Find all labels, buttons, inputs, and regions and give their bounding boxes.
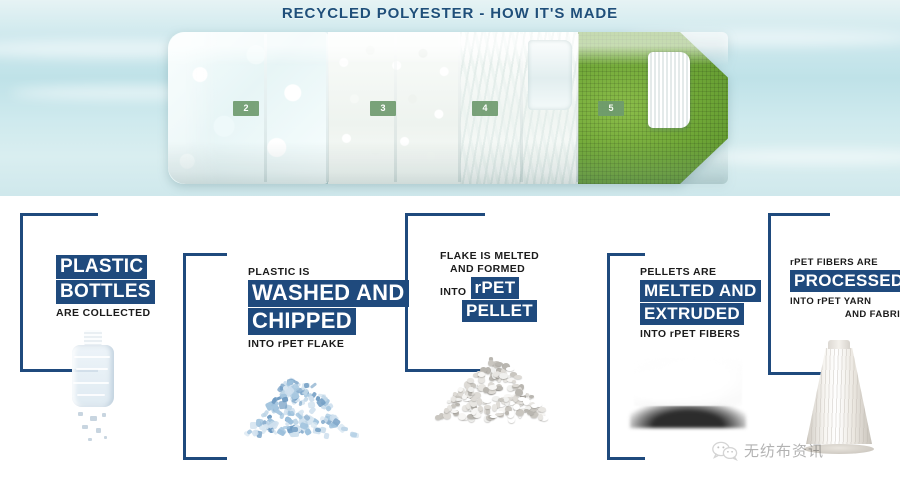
pellet-particle bbox=[486, 408, 490, 414]
flake-particle bbox=[288, 410, 294, 416]
bottle-fragment bbox=[78, 412, 83, 416]
step-4-text: PELLETS ARE MELTED AND EXTRUDED INTO rPE… bbox=[640, 266, 761, 341]
step-2-text: PLASTIC IS WASHED AND CHIPPED INTO rPET … bbox=[248, 266, 409, 351]
step-3-inline-pre: INTO bbox=[440, 286, 467, 299]
hero-banner: RECYCLED POLYESTER - HOW IT'S MADE 2 3 4… bbox=[0, 0, 900, 196]
cone-body bbox=[806, 348, 872, 444]
step-1-post-text: ARE COLLECTED bbox=[56, 307, 155, 320]
bottle-marker-4: 4 bbox=[472, 101, 498, 116]
bottle-neck-detail bbox=[84, 330, 102, 346]
step-2-highlight-line-1: WASHED AND bbox=[248, 280, 409, 307]
pellet-particle bbox=[512, 380, 516, 383]
step-5-highlight-line-1: PROCESSED bbox=[790, 270, 900, 292]
step-4-pre-text: PELLETS ARE bbox=[640, 266, 761, 279]
crush-line bbox=[77, 394, 105, 396]
crush-line bbox=[74, 356, 110, 358]
step-3-pre-line-1: FLAKE IS MELTED bbox=[440, 250, 539, 263]
pellet-particle bbox=[492, 404, 497, 411]
flake-particle bbox=[292, 427, 297, 432]
pellet-particle bbox=[467, 378, 474, 383]
step-2-post-text: INTO rPET FLAKE bbox=[248, 338, 409, 351]
pellet-particle bbox=[478, 376, 485, 383]
cone-top bbox=[828, 340, 850, 349]
pellet-particle bbox=[478, 372, 485, 376]
crush-line bbox=[76, 368, 108, 370]
pellet-particle bbox=[488, 385, 497, 390]
pellet-particle bbox=[490, 415, 497, 419]
bottle-fragment bbox=[82, 425, 88, 429]
crush-line bbox=[73, 382, 109, 384]
pellet-particle bbox=[435, 415, 442, 421]
pellet-particle bbox=[483, 387, 489, 393]
step-2-pre-text: PLASTIC IS bbox=[248, 266, 409, 279]
bottle-rib bbox=[576, 34, 579, 182]
bottle-marker-3: 3 bbox=[370, 101, 396, 116]
step-1-highlight-line-2: BOTTLES bbox=[56, 280, 155, 304]
watermark: 无纺布资讯 bbox=[712, 440, 824, 461]
step-1-text: PLASTIC BOTTLES ARE COLLECTED bbox=[56, 254, 155, 320]
pellet-particle bbox=[483, 399, 491, 402]
step-5-text: rPET FIBERS ARE PROCESSED INTO rPET YARN… bbox=[790, 256, 900, 321]
background-wisp bbox=[700, 150, 900, 164]
bottle-rib bbox=[458, 34, 461, 182]
step-4-post-text: INTO rPET FIBERS bbox=[640, 328, 761, 341]
pellet-particle bbox=[443, 412, 452, 419]
plastic-bottle-photo bbox=[60, 330, 126, 450]
pellet-particle bbox=[506, 367, 514, 371]
step-connector-bracket-2 bbox=[183, 253, 227, 460]
step-5-pre-text: rPET FIBERS ARE bbox=[790, 256, 900, 269]
step-1-highlight-line-1: PLASTIC bbox=[56, 255, 147, 279]
bottle-fragment bbox=[102, 413, 106, 417]
pellet-particle bbox=[515, 389, 523, 396]
bottle-marker-2: 2 bbox=[233, 101, 259, 116]
bottle-fragment bbox=[88, 438, 92, 441]
pellet-particle bbox=[516, 409, 524, 416]
pellet-particle bbox=[495, 362, 503, 366]
bottle-body-detail bbox=[72, 345, 114, 407]
bottle-fragment bbox=[90, 416, 97, 421]
wechat-icon bbox=[712, 441, 738, 461]
pellet-particle bbox=[513, 404, 520, 410]
pellet-particle bbox=[444, 408, 449, 413]
pellet-particle bbox=[451, 404, 456, 408]
bottle-cap bbox=[648, 52, 690, 128]
pellet-particle bbox=[471, 410, 476, 415]
pellet-particle bbox=[514, 375, 522, 379]
flake-particle bbox=[314, 427, 320, 432]
step-4-highlight-line-2: EXTRUDED bbox=[640, 303, 744, 325]
step-4-highlight-line-1: MELTED AND bbox=[640, 280, 761, 302]
step-3-highlight-line-1: rPET bbox=[471, 277, 520, 299]
flake-particle bbox=[323, 432, 329, 439]
bottle-rib bbox=[264, 34, 267, 182]
pellet-particle bbox=[470, 400, 477, 407]
bottle-rib bbox=[326, 34, 329, 182]
step-3-text: FLAKE IS MELTED AND FORMED INTO rPET PEL… bbox=[440, 250, 539, 323]
step-3-highlight-line-2: PELLET bbox=[462, 300, 537, 322]
step-2-highlight-line-2: CHIPPED bbox=[248, 308, 356, 335]
rpet-yarn-cone-photo bbox=[800, 340, 878, 452]
pellet-particle bbox=[513, 395, 518, 402]
fiber-cloud bbox=[634, 358, 742, 406]
pellet-particle bbox=[505, 411, 509, 416]
pellet-particle bbox=[538, 407, 547, 413]
flake-particle bbox=[310, 382, 318, 389]
bottle-fragment bbox=[104, 436, 107, 439]
step-5-post-line-1: INTO rPET YARN bbox=[790, 295, 900, 308]
bottle-fragment bbox=[96, 428, 101, 433]
pellet-particle bbox=[451, 410, 458, 413]
flake-particle bbox=[283, 425, 290, 429]
page-title: RECYCLED POLYESTER - HOW IT'S MADE bbox=[0, 5, 900, 22]
pellet-particle bbox=[488, 360, 494, 366]
flake-particle bbox=[279, 401, 287, 409]
bottle-rib bbox=[520, 34, 523, 182]
pellet-particle bbox=[468, 387, 473, 393]
step-5-post-line-2: AND FABRIC bbox=[790, 308, 900, 321]
flake-particle bbox=[298, 401, 302, 406]
rpet-fiber-photo bbox=[630, 358, 746, 428]
watermark-text: 无纺布资讯 bbox=[744, 440, 824, 461]
bottle-marker-5: 5 bbox=[598, 101, 624, 116]
step-3-pre-line-2: AND FORMED bbox=[440, 263, 539, 276]
rpet-flake-photo bbox=[240, 370, 352, 440]
rpet-pellet-photo bbox=[432, 352, 550, 422]
bottle-neck bbox=[528, 40, 572, 110]
